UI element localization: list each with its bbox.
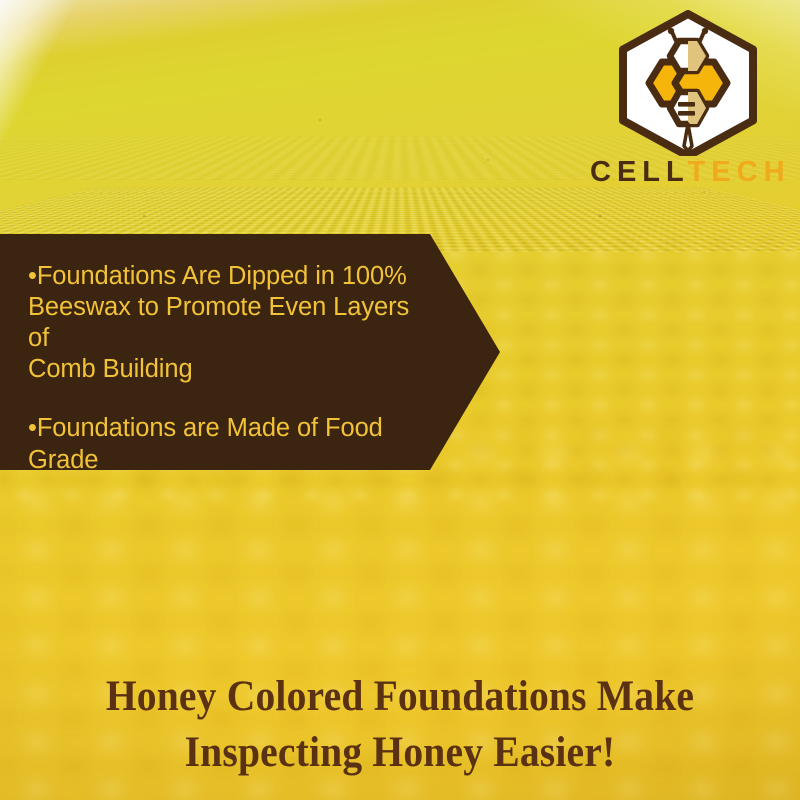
brand-wordmark: CELLTECH — [590, 158, 786, 187]
callout-content: •Foundations Are Dipped in 100% Beeswax … — [0, 234, 428, 507]
bullet-1-line-3: Comb Building — [28, 354, 428, 385]
hexagon-bee-honeycomb-logo-icon — [613, 10, 763, 156]
bullet-2-line-1: •Foundations are Made of Food Grade — [28, 413, 428, 475]
bullet-spacer — [28, 385, 428, 413]
brand-logo: CELLTECH — [590, 10, 786, 187]
feature-callout-banner: •Foundations Are Dipped in 100% Beeswax … — [0, 234, 500, 470]
marketing-poster: CELLTECH •Foundations Are Dipped in 100%… — [0, 0, 800, 800]
wordmark-cell: CELL — [590, 156, 688, 188]
headline-line-1: Honey Colored Foundations Make — [32, 669, 768, 726]
poster-headline: Honey Colored Foundations Make Inspectin… — [32, 669, 768, 783]
headline-line-2: Inspecting Honey Easier! — [32, 725, 768, 782]
bullet-1-line-2: Beeswax to Promote Even Layers of — [28, 292, 428, 354]
wordmark-tech: TECH — [688, 156, 791, 188]
bullet-1-line-1: •Foundations Are Dipped in 100% — [28, 261, 428, 292]
